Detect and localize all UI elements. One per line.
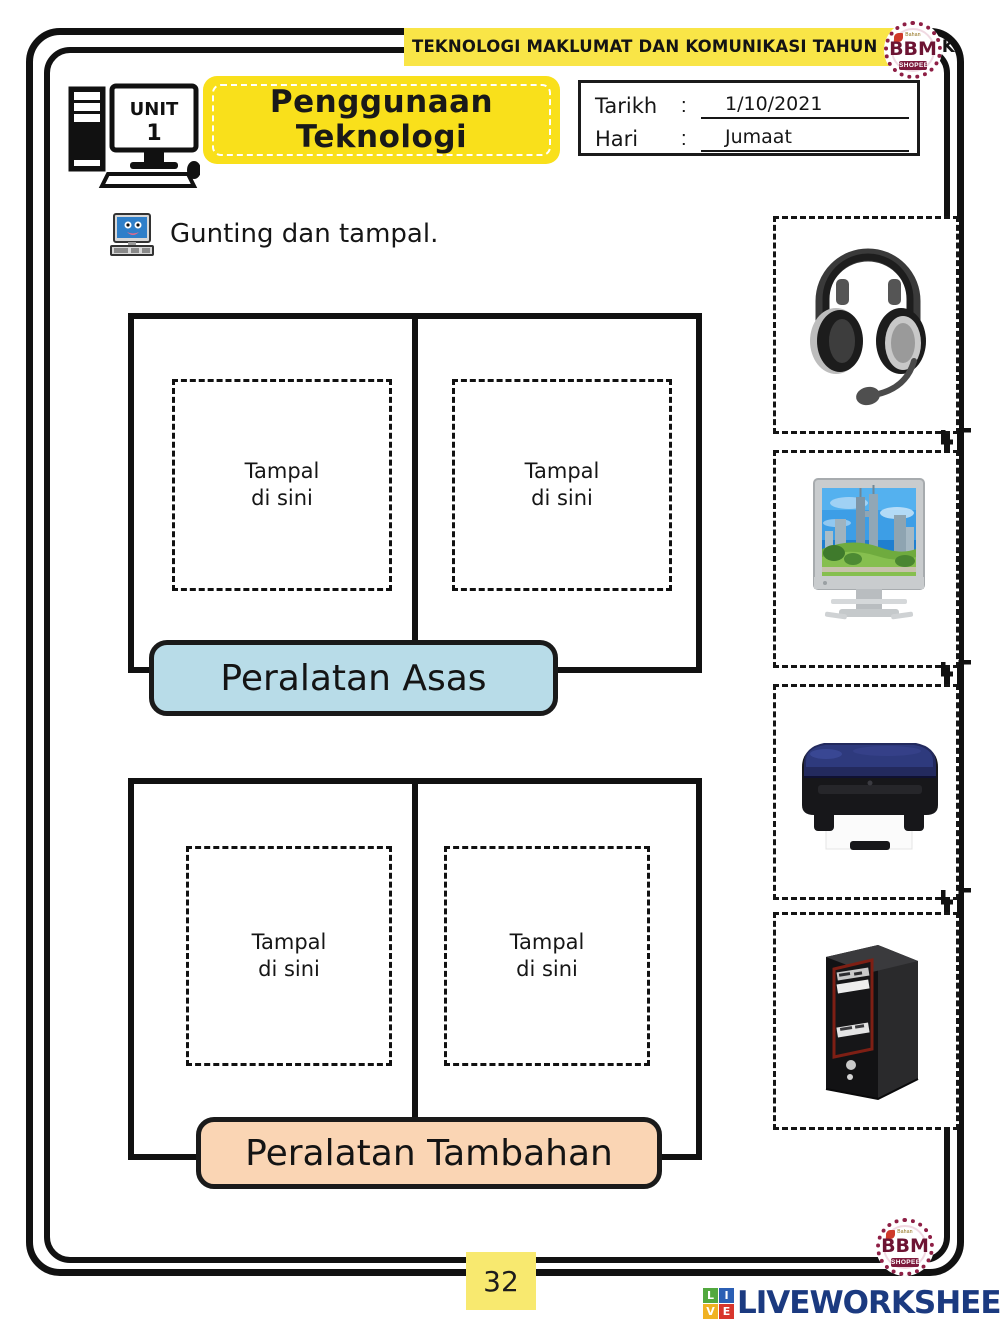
svg-text:1: 1 (146, 121, 161, 146)
paste-label-line-2: di sini (510, 956, 585, 983)
monitor-icon (809, 477, 929, 646)
paste-label-line-2: di sini (245, 485, 320, 512)
bbm-shopee-stamp-bottom: Bahan BBM SHOPEE (876, 1218, 934, 1276)
date-box: Tarikh : 1/10/2021 Hari : Jumaat (578, 80, 920, 156)
paste-label-line-2: di sini (252, 956, 327, 983)
logo-tile-i: I (719, 1288, 734, 1303)
svg-text:UNIT: UNIT (130, 99, 179, 120)
logo-letter-tiles: L I V E (703, 1288, 734, 1319)
cutout-card-monitor[interactable] (773, 450, 959, 668)
printer-icon (792, 723, 946, 872)
paste-label-line-2: di sini (525, 485, 600, 512)
cutout-card-headset[interactable] (773, 216, 959, 434)
category-label-additional: Peralatan Tambahan (196, 1117, 662, 1189)
unit-title-line-2: Teknologi (203, 120, 560, 155)
paste-label-line-1: Tampal (245, 458, 320, 485)
cut-mark-icon (941, 428, 975, 446)
stamp-main-text: BBM (888, 40, 938, 59)
table-divider (412, 784, 418, 1154)
unit-title-banner: Penggunaan Teknologi (203, 76, 560, 164)
bbm-shopee-stamp-top: Bahan BBM SHOPEE (884, 21, 942, 79)
paste-label-line-1: Tampal (525, 458, 600, 485)
cutout-card-cpu-tower[interactable] (773, 912, 959, 1130)
date-label: Tarikh (595, 93, 681, 119)
date-colon: : (681, 93, 701, 119)
subject-banner-text: TEKNOLOGI MAKLUMAT DAN KOMUNIKASI TAHUN … (412, 34, 892, 60)
logo-tile-e: E (719, 1304, 734, 1319)
paste-drop-zone[interactable]: Tampal di sini (186, 846, 392, 1066)
table-divider (412, 319, 418, 667)
stamp-main-text: BBM (880, 1237, 930, 1256)
instruction-text: Gunting dan tampal. (170, 217, 438, 251)
cut-mark-icon (941, 660, 975, 678)
activity-table-additional: Tampal di sini Tampal di sini (128, 778, 702, 1160)
cutout-card-printer[interactable] (773, 684, 959, 900)
logo-tile-v: V (703, 1304, 718, 1319)
activity-table-basic: Tampal di sini Tampal di sini (128, 313, 702, 673)
headset-icon (802, 237, 934, 420)
cpu-tower-icon (814, 937, 928, 1114)
liveworksheets-logo: L I V E LIVEWORKSHEETS (703, 1286, 1000, 1320)
date-value[interactable]: 1/10/2021 (701, 92, 909, 119)
unit-computer-icon: UNIT 1 (68, 78, 200, 188)
stamp-sub-text: SHOPEE (891, 1258, 919, 1267)
category-label-basic: Peralatan Asas (149, 640, 558, 716)
day-label: Hari (595, 126, 681, 152)
page-number: 32 (466, 1252, 536, 1310)
stamp-sub-text: SHOPEE (899, 61, 927, 70)
date-row: Tarikh : 1/10/2021 (595, 87, 909, 119)
computer-icon (109, 212, 155, 256)
day-colon: : (681, 126, 701, 152)
logo-wordmark: LIVEWORKSHEETS (737, 1287, 1000, 1319)
paste-drop-zone[interactable]: Tampal di sini (444, 846, 650, 1066)
paste-label-line-1: Tampal (252, 929, 327, 956)
paste-drop-zone[interactable]: Tampal di sini (172, 379, 392, 591)
paste-label-line-1: Tampal (510, 929, 585, 956)
day-value[interactable]: Jumaat (701, 125, 909, 152)
paste-drop-zone[interactable]: Tampal di sini (452, 379, 672, 591)
worksheet-page: TEKNOLOGI MAKLUMAT DAN KOMUNIKASI TAHUN … (0, 0, 1000, 1321)
logo-tile-l: L (703, 1288, 718, 1303)
cut-mark-icon (941, 888, 975, 906)
unit-title-line-1: Penggunaan (203, 85, 560, 120)
unit-title: Penggunaan Teknologi (203, 85, 560, 155)
day-row: Hari : Jumaat (595, 120, 909, 152)
